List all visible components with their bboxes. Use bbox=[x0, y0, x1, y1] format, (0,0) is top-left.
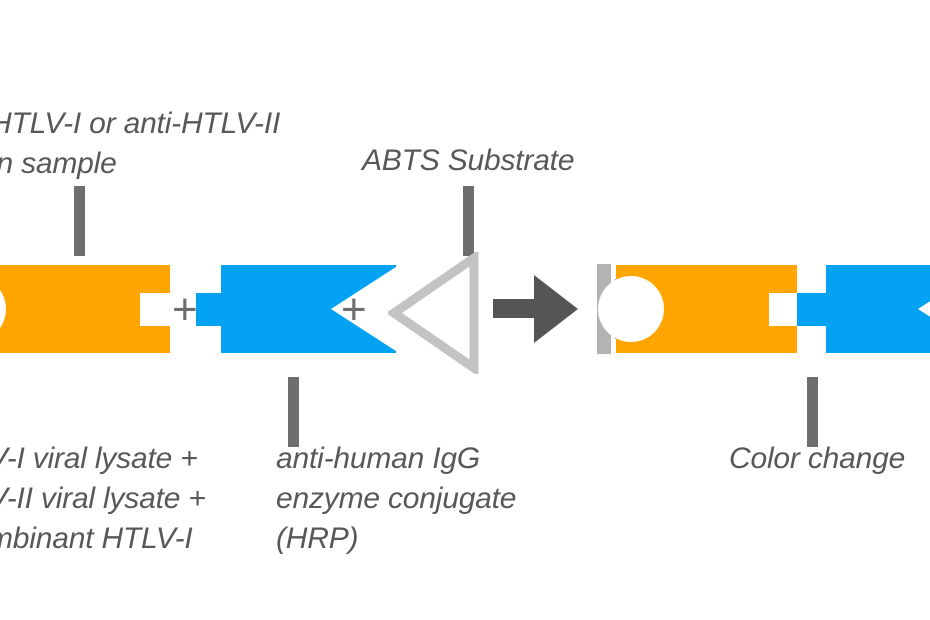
bound-antibody-tab bbox=[797, 293, 827, 326]
pointer-tick-substrate bbox=[463, 186, 474, 256]
reaction-arrow-head bbox=[534, 275, 578, 343]
label-abts-substrate: ABTS Substrate bbox=[362, 142, 574, 180]
label-coated-antigen-line1: V-I viral lysate + bbox=[0, 440, 198, 478]
elisa-diagram-canvas: HTLV-I or anti-HTLV-II in sample ABTS Su… bbox=[0, 0, 930, 620]
label-conjugate-line2: enzyme conjugate bbox=[276, 480, 516, 518]
label-sample-antibody-line2: in sample bbox=[0, 145, 117, 183]
pointer-tick-color-change bbox=[807, 377, 818, 447]
label-sample-antibody-line1: HTLV-I or anti-HTLV-II bbox=[0, 105, 280, 143]
reaction-arrow-shaft bbox=[493, 299, 537, 318]
pointer-tick-conjugate bbox=[288, 377, 299, 447]
plus-operator-1: + bbox=[172, 288, 198, 332]
sample-antibody bbox=[221, 265, 396, 353]
label-conjugate-line1: anti-human IgG bbox=[276, 440, 480, 478]
label-coated-antigen-line2: V-II viral lysate + bbox=[0, 480, 206, 518]
plus-operator-2: + bbox=[341, 288, 367, 332]
bound-antibody bbox=[826, 265, 930, 353]
product-antigen-coated-plate bbox=[616, 265, 797, 353]
sample-antibody-tab bbox=[196, 293, 222, 326]
antigen-binding-pocket bbox=[0, 276, 6, 342]
pointer-tick-sample-antibody bbox=[74, 186, 85, 256]
label-coated-antigen-line3: mbinant HTLV-I bbox=[0, 520, 193, 558]
plate-right-notch-cut bbox=[140, 293, 170, 326]
abts-substrate-triangle bbox=[388, 252, 480, 374]
product-antigen-pocket bbox=[598, 276, 664, 342]
bound-antibody-v-notch bbox=[918, 265, 930, 353]
product-plate-right-notch bbox=[769, 293, 799, 326]
label-conjugate-line3: (HRP) bbox=[276, 520, 358, 558]
